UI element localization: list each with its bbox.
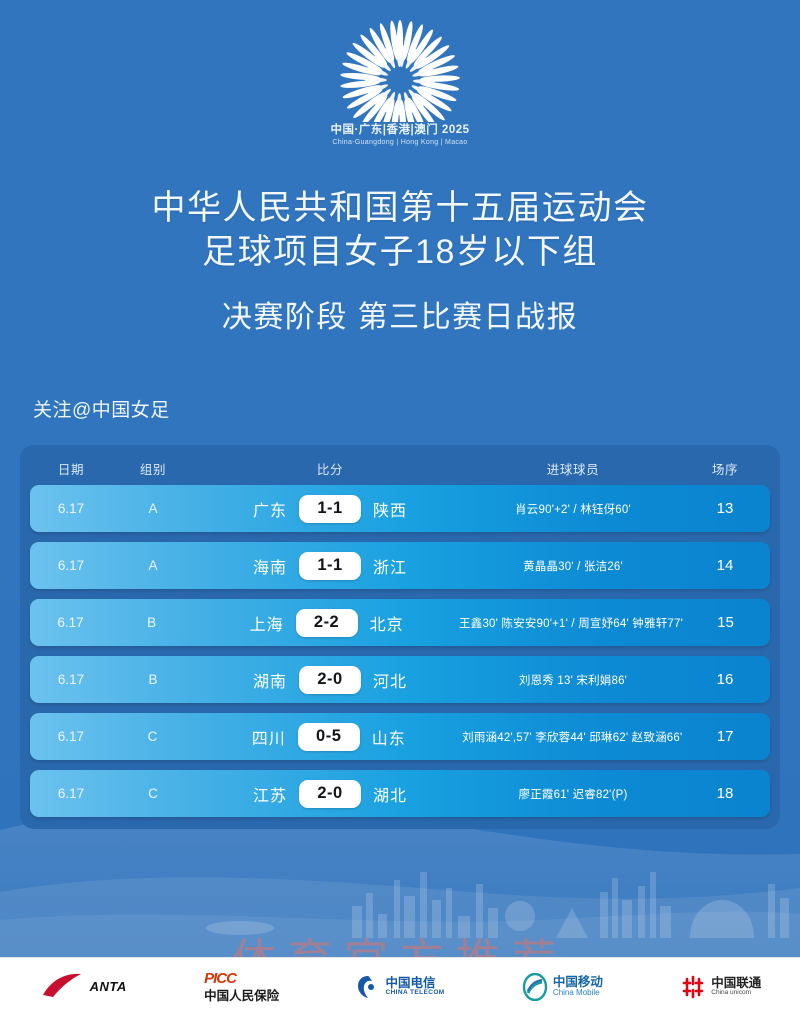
- table-row[interactable]: 6.17 C 江苏 2-0 湖北 廖正霞61' 迟睿82'(P) 18: [30, 770, 770, 817]
- results-panel: 日期 组别 比分 进球球员 场序 6.17 A 广东 1-1 陕西 肖云90'+…: [20, 445, 780, 829]
- cell-group: C: [110, 729, 196, 744]
- score-badge: 2-2: [296, 609, 358, 637]
- table-row[interactable]: 6.17 B 湖南 2-0 河北 刘恩秀 13' 宋利娟86' 16: [30, 656, 770, 703]
- away-team: 湖北: [373, 782, 425, 806]
- sponsor-anta-label: ANTA: [90, 980, 127, 994]
- sponsor-china-unicom: 中国联通 China unicom: [680, 974, 761, 1000]
- away-team: 河北: [373, 668, 425, 692]
- page-title-line2: 足球项目女子18岁以下组: [0, 230, 800, 274]
- page-subtitle: 决赛阶段 第三比赛日战报: [0, 298, 800, 338]
- table-row[interactable]: 6.17 B 上海 2-2 北京 王鑫30' 陈安安90'+1' / 周宣妤64…: [30, 599, 770, 646]
- cell-scorers: 肖云90'+2' / 林钰伢60': [464, 501, 682, 517]
- anta-logo-icon: [39, 971, 85, 1003]
- away-team: 浙江: [373, 554, 425, 578]
- home-team: 湖南: [235, 668, 287, 692]
- cell-order: 13: [682, 500, 768, 517]
- score-badge: 0-5: [298, 723, 360, 751]
- cell-score: 广东 1-1 陕西: [196, 495, 464, 523]
- score-badge: 1-1: [299, 552, 361, 580]
- away-team: 陕西: [373, 497, 425, 521]
- sponsor-anta: ANTA: [39, 971, 127, 1003]
- title-block: 中华人民共和国第十五届运动会 足球项目女子18岁以下组 决赛阶段 第三比赛日战报: [0, 186, 800, 338]
- cell-scorers: 廖正霞61' 迟睿82'(P): [464, 786, 682, 802]
- cell-scorers: 刘雨涵42',57' 李欣蓉44' 邱琳62' 赵致涵66': [462, 729, 682, 745]
- cell-order: 17: [682, 728, 768, 745]
- column-header-scorers: 进球球员: [464, 459, 682, 478]
- page-title-line1: 中华人民共和国第十五届运动会: [0, 186, 800, 230]
- cell-date: 6.17: [32, 558, 110, 573]
- away-team: 山东: [372, 725, 424, 749]
- cell-score: 湖南 2-0 河北: [196, 666, 464, 694]
- cell-date: 6.17: [32, 729, 110, 744]
- sponsor-china-unicom-label-en: China unicom: [711, 990, 761, 997]
- column-header-order: 场序: [682, 459, 768, 478]
- cell-group: A: [110, 558, 196, 573]
- cell-order: 15: [683, 614, 768, 631]
- emblem-title-en: China-Guangdong | Hong Kong | Macao: [0, 138, 800, 148]
- cell-score: 四川 0-5 山东: [195, 723, 462, 751]
- column-header-group: 组别: [110, 459, 196, 478]
- cell-group: B: [110, 672, 196, 687]
- cell-group: C: [110, 786, 196, 801]
- sponsor-picc-label: 中国人民保险: [204, 990, 279, 1003]
- emblem-title-cn: 中国·广东|香港|澳门 2025: [0, 124, 800, 137]
- home-team: 江苏: [235, 782, 287, 806]
- cell-scorers: 黄晶晶30' / 张洁26': [464, 558, 682, 574]
- column-header-score: 比分: [196, 459, 464, 478]
- sponsor-china-telecom: 中国电信 CHINA TELECOM: [356, 974, 444, 1000]
- score-badge: 2-0: [299, 666, 361, 694]
- cell-date: 6.17: [32, 501, 110, 516]
- cell-date: 6.17: [32, 615, 109, 630]
- cell-date: 6.17: [32, 672, 110, 687]
- poster-root: 中国·广东|香港|澳门 2025 China-Guangdong | Hong …: [0, 0, 800, 1016]
- score-badge: 2-0: [299, 780, 361, 808]
- cell-date: 6.17: [32, 786, 110, 801]
- sponsor-china-mobile: 中国移动 China Mobile: [522, 973, 603, 1001]
- cell-score: 海南 1-1 浙江: [196, 552, 464, 580]
- sponsor-bar: ANTA PICC 中国人民保险 中国电信 CHINA TELECOM: [0, 957, 800, 1016]
- home-team: 广东: [235, 497, 287, 521]
- event-emblem: 中国·广东|香港|澳门 2025 China-Guangdong | Hong …: [0, 18, 800, 148]
- cell-group: B: [109, 615, 194, 630]
- emblem-burst-icon: [330, 18, 470, 122]
- home-team: 四川: [234, 725, 286, 749]
- china-unicom-logo-icon: [680, 974, 706, 1000]
- table-row[interactable]: 6.17 C 四川 0-5 山东 刘雨涵42',57' 李欣蓉44' 邱琳62'…: [30, 713, 770, 760]
- cell-group: A: [110, 501, 196, 516]
- away-team: 北京: [370, 611, 422, 635]
- column-header-date: 日期: [32, 459, 110, 478]
- cell-order: 16: [682, 671, 768, 688]
- follow-handle: 关注@中国女足: [33, 395, 170, 422]
- table-body: 6.17 A 广东 1-1 陕西 肖云90'+2' / 林钰伢60' 13 6.…: [20, 485, 780, 817]
- china-telecom-logo-icon: [356, 974, 380, 1000]
- sponsor-picc-mark: PICC: [204, 971, 279, 987]
- home-team: 上海: [232, 611, 284, 635]
- table-row[interactable]: 6.17 A 海南 1-1 浙江 黄晶晶30' / 张洁26' 14: [30, 542, 770, 589]
- table-row[interactable]: 6.17 A 广东 1-1 陕西 肖云90'+2' / 林钰伢60' 13: [30, 485, 770, 532]
- cell-score: 上海 2-2 北京: [194, 609, 459, 637]
- cell-order: 18: [682, 785, 768, 802]
- cell-scorers: 刘恩秀 13' 宋利娟86': [464, 672, 682, 688]
- cell-scorers: 王鑫30' 陈安安90'+1' / 周宣妤64' 钟雅轩77': [459, 615, 683, 631]
- sponsor-china-telecom-label-en: CHINA TELECOM: [385, 990, 444, 997]
- table-header-row: 日期 组别 比分 进球球员 场序: [20, 451, 780, 485]
- sponsor-china-mobile-label-en: China Mobile: [553, 989, 603, 997]
- score-badge: 1-1: [299, 495, 361, 523]
- cell-order: 14: [682, 557, 768, 574]
- sponsor-picc: PICC 中国人民保险: [204, 971, 279, 1003]
- china-mobile-logo-icon: [522, 973, 548, 1001]
- cell-score: 江苏 2-0 湖北: [196, 780, 464, 808]
- home-team: 海南: [235, 554, 287, 578]
